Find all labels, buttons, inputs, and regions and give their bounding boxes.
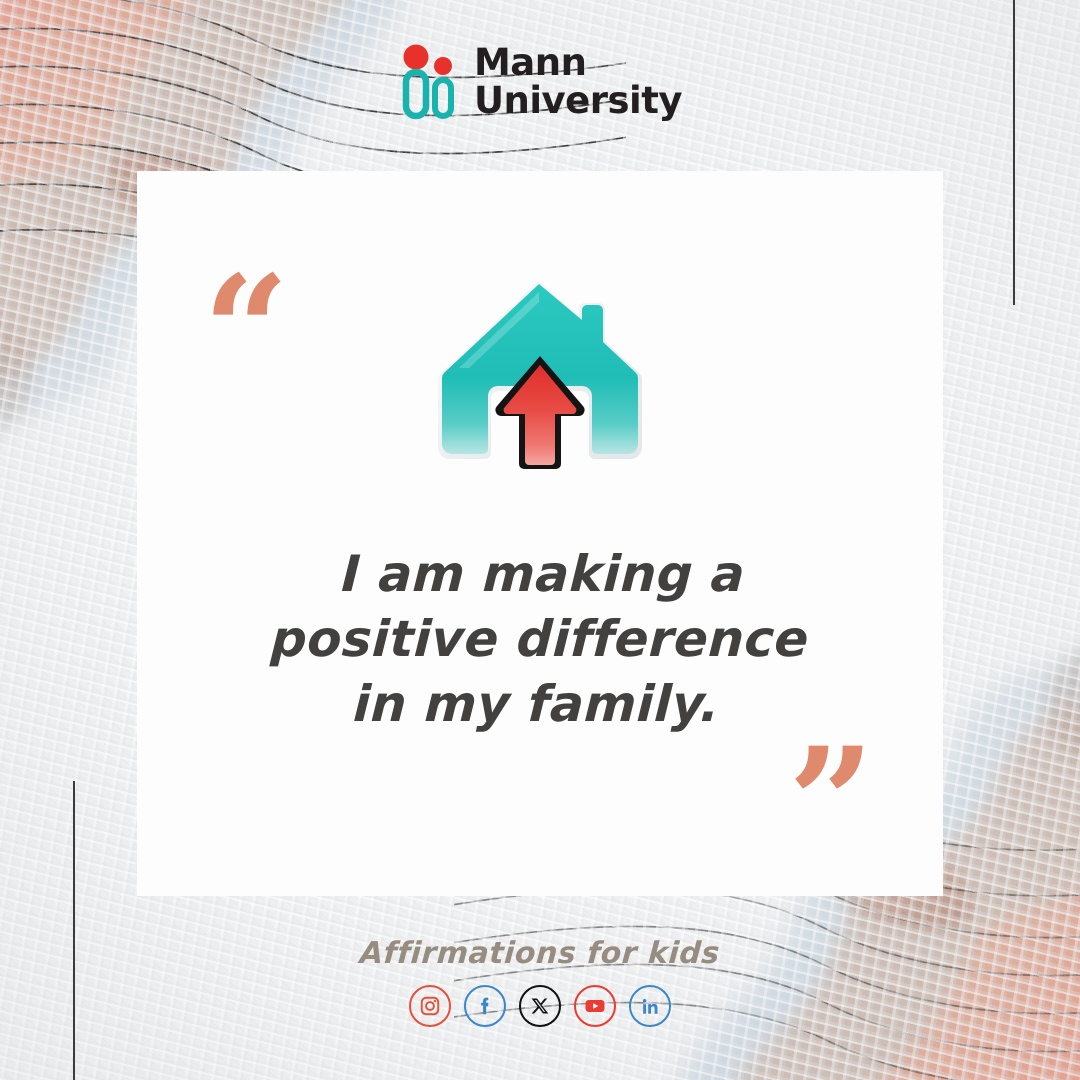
two-people-icon	[398, 44, 458, 120]
closing-quote-glyph: ”	[788, 728, 874, 878]
corner-rule-left	[73, 781, 75, 1080]
instagram-icon[interactable]	[409, 985, 451, 1027]
poster-canvas: Mann University “ ”	[0, 0, 1080, 1080]
facebook-icon[interactable]	[464, 985, 506, 1027]
house-with-up-arrow-icon	[425, 268, 655, 498]
quote-line-3: in my family.	[215, 672, 858, 737]
affirmation-quote: I am making a positive difference in my …	[215, 542, 865, 737]
x-twitter-icon[interactable]	[519, 985, 561, 1027]
social-links	[409, 985, 671, 1027]
brand-wordmark: Mann University	[474, 44, 682, 119]
quote-line-2: positive difference	[218, 607, 861, 672]
brand-line-1: Mann	[474, 44, 682, 82]
footer: Affirmations for kids	[0, 936, 1080, 1027]
linkedin-icon[interactable]	[629, 985, 671, 1027]
youtube-icon[interactable]	[574, 985, 616, 1027]
brand-line-2: University	[474, 82, 682, 120]
footer-tagline: Affirmations for kids	[359, 936, 721, 971]
quote-line-1: I am making a	[222, 542, 865, 607]
opening-quote-glyph: “	[203, 256, 289, 406]
brand-logo[interactable]: Mann University	[0, 44, 1080, 120]
